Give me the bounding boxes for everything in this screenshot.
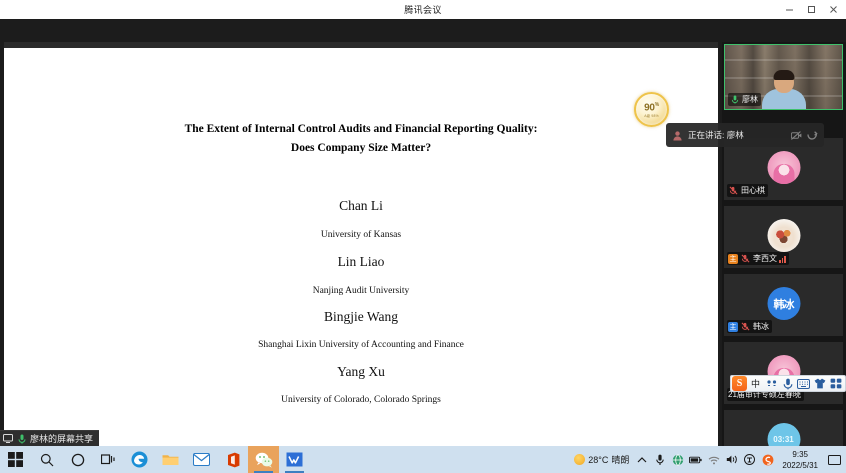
active-speaker-text: 正在讲话: 廖林 <box>688 129 744 141</box>
office-button[interactable] <box>217 446 248 473</box>
participant-tile[interactable]: 主 李西文 <box>724 206 843 268</box>
taskbar-tray: 28°C 晴朗 <box>574 446 846 473</box>
author-block-1: Chan Li <box>44 198 678 214</box>
microphone-icon[interactable] <box>653 453 666 466</box>
author-name: Chan Li <box>44 198 678 214</box>
author-affiliation: Shanghai Lixin University of Accounting … <box>44 338 678 352</box>
input-method-toolbar[interactable]: S 中 <box>730 375 846 392</box>
author-block-4: Yang Xu <box>44 364 678 380</box>
wifi-icon[interactable] <box>707 453 720 466</box>
mail-button[interactable] <box>186 446 217 473</box>
skin-icon[interactable] <box>812 376 827 391</box>
affiliation-block-2: Nanjing Audit University <box>44 284 678 298</box>
participant-tile[interactable]: 田心棋 <box>724 138 843 200</box>
input-method-icon[interactable] <box>743 453 756 466</box>
close-icon[interactable] <box>822 0 844 19</box>
sogou-logo-icon[interactable]: S <box>732 376 747 391</box>
participant-tile[interactable]: 03:31 李菡茜~2021级会计学 <box>724 410 843 446</box>
banner-icon-group <box>791 130 818 141</box>
avatar <box>767 219 800 252</box>
avatar: 韩冰 <box>767 287 800 320</box>
task-view-button[interactable] <box>93 446 124 473</box>
search-button[interactable] <box>31 446 62 473</box>
weather-temperature: 28°C <box>588 455 608 465</box>
notification-icon[interactable] <box>826 446 842 473</box>
avatar <box>767 151 800 184</box>
participant-tile[interactable]: 廖林 <box>724 44 843 110</box>
author-name: Yang Xu <box>44 364 678 380</box>
author-name: Bingjie Wang <box>44 309 678 325</box>
affiliation-block-4: University of Colorado, Colorado Springs <box>44 393 678 407</box>
author-name: Lin Liao <box>44 254 678 270</box>
author-affiliation: University of Kansas <box>44 228 678 242</box>
video-off-icon[interactable] <box>791 130 802 141</box>
shared-screen-area[interactable]: The Extent of Internal Control Audits an… <box>4 42 718 451</box>
slide-title-line-2: Does Company Size Matter? <box>44 139 678 158</box>
score-badge-sublabel: A级 98% <box>644 114 659 119</box>
active-speaker-banner: 正在讲话: 廖林 <box>666 123 824 147</box>
signal-strength-icon <box>779 255 786 263</box>
battery-icon[interactable] <box>689 453 702 466</box>
taskbar-clock[interactable]: 9:35 2022/5/31 <box>780 449 820 471</box>
wechat-button[interactable] <box>248 446 279 473</box>
microphone-muted-icon <box>728 185 739 196</box>
chevron-up-icon[interactable] <box>635 453 648 466</box>
sun-icon <box>574 454 585 465</box>
volume-icon[interactable] <box>725 453 738 466</box>
participant-name: 李西文 <box>753 253 777 264</box>
microphone-muted-icon <box>740 321 751 332</box>
participant-tile[interactable]: 韩冰 主 韩冰 <box>724 274 843 336</box>
participant-label: 主 李西文 <box>727 252 789 265</box>
tencent-meeting-button[interactable] <box>279 446 310 473</box>
maximize-icon[interactable] <box>800 0 822 19</box>
weather-description: 晴朗 <box>611 453 629 466</box>
soft-keyboard-icon[interactable] <box>796 376 811 391</box>
screen-share-text: 廖林的屏幕共享 <box>30 432 93 445</box>
participant-name: 韩冰 <box>753 321 769 332</box>
taskbar-apps <box>0 446 310 473</box>
author-block-2: Lin Liao <box>44 254 678 270</box>
microphone-muted-icon <box>740 253 751 264</box>
screen-share-notice: 廖林的屏幕共享 <box>0 430 99 446</box>
network-icon[interactable] <box>671 453 684 466</box>
score-badge-percent: 90% <box>644 100 659 113</box>
screen: 腾讯会议 The Extent of Internal Control Audi… <box>0 0 846 473</box>
cortana-button[interactable] <box>62 446 93 473</box>
avatar-icon <box>672 130 683 141</box>
microphone-icon <box>16 433 27 444</box>
participant-label: 主 韩冰 <box>727 320 772 333</box>
clock-time: 9:35 <box>782 449 818 460</box>
window-title-bar: 腾讯会议 <box>0 0 846 19</box>
window-title: 腾讯会议 <box>404 3 442 16</box>
minimize-icon[interactable] <box>778 0 800 19</box>
toolbox-icon[interactable] <box>828 376 843 391</box>
presentation-slide: The Extent of Internal Control Audits an… <box>4 48 718 451</box>
weather-widget[interactable]: 28°C 晴朗 <box>574 453 629 466</box>
chinese-mode-icon[interactable]: 中 <box>748 376 763 391</box>
participant-label: 廖林 <box>728 93 761 106</box>
tray-icon-group <box>635 453 774 466</box>
punctuation-icon[interactable] <box>764 376 779 391</box>
participant-label: 田心棋 <box>727 184 768 197</box>
window-controls <box>778 0 844 19</box>
author-block-3: Bingjie Wang <box>44 309 678 325</box>
affiliation-block-3: Shanghai Lixin University of Accounting … <box>44 338 678 352</box>
host-badge-icon: 主 <box>728 254 738 264</box>
score-badge: 90% A级 98% <box>634 92 669 127</box>
hand-icon[interactable] <box>807 130 818 141</box>
meeting-body: The Extent of Internal Control Audits an… <box>0 19 846 446</box>
slide-title-line-1: The Extent of Internal Control Audits an… <box>44 120 678 139</box>
avatar: 03:31 <box>767 423 800 446</box>
microphone-icon <box>729 94 740 105</box>
affiliation-block-1: University of Kansas <box>44 228 678 242</box>
start-button[interactable] <box>0 446 31 473</box>
edge-button[interactable] <box>124 446 155 473</box>
voice-input-icon[interactable] <box>780 376 795 391</box>
participant-name: 田心棋 <box>741 185 765 196</box>
monitor-icon <box>2 433 13 444</box>
slide-title: The Extent of Internal Control Audits an… <box>44 120 678 158</box>
windows-taskbar[interactable]: 28°C 晴朗 <box>0 446 846 473</box>
clock-date: 2022/5/31 <box>782 460 818 471</box>
person-silhouette <box>761 71 807 109</box>
participant-tile[interactable]: 21届审计专硕左春晓 <box>724 342 843 404</box>
participant-name: 廖林 <box>742 94 758 105</box>
author-affiliation: Nanjing Audit University <box>44 284 678 298</box>
host-badge-icon: 主 <box>728 322 738 332</box>
sogou-icon[interactable] <box>761 453 774 466</box>
author-affiliation: University of Colorado, Colorado Springs <box>44 393 678 407</box>
file-explorer-button[interactable] <box>155 446 186 473</box>
